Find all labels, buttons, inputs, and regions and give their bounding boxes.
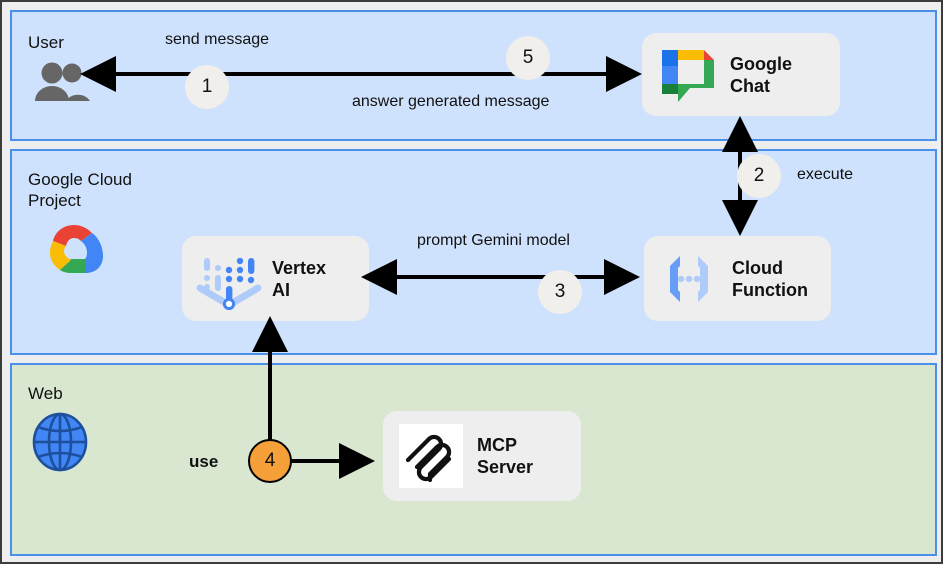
globe-icon: [29, 411, 91, 473]
vertex-ai-icon: [196, 248, 262, 310]
node-mcp-server-label: MCP Server: [477, 434, 533, 478]
edge-label-execute: execute: [797, 166, 853, 184]
node-vertex-ai[interactable]: Vertex AI: [182, 236, 369, 321]
step-badge-2: 2: [737, 154, 781, 198]
panel-gcp-title: Google Cloud Project: [28, 169, 132, 211]
edge-label-answer-generated-message: answer generated message: [352, 93, 549, 111]
step-badge-3: 3: [538, 270, 582, 314]
node-google-chat[interactable]: Google Chat: [642, 33, 840, 116]
google-cloud-icon: [40, 221, 108, 277]
panel-web: Web: [10, 363, 937, 556]
diagram-canvas: User Google Cloud Project: [0, 0, 943, 564]
panel-user-title: User: [28, 32, 64, 53]
step-badge-1: 1: [185, 65, 229, 109]
cloud-function-icon: [658, 248, 720, 310]
node-cloud-function[interactable]: Cloud Function: [644, 236, 831, 321]
step-badge-5: 5: [506, 36, 550, 80]
panel-web-title: Web: [28, 383, 63, 404]
node-cloud-function-label: Cloud Function: [732, 257, 808, 301]
google-chat-icon: [656, 44, 718, 106]
node-vertex-ai-label: Vertex AI: [272, 257, 326, 301]
edge-label-send-message: send message: [165, 31, 269, 49]
edge-label-prompt-gemini-model: prompt Gemini model: [417, 232, 570, 250]
node-google-chat-label: Google Chat: [730, 53, 792, 97]
edge-label-use: use: [189, 452, 218, 472]
step-badge-4: 4: [248, 439, 292, 483]
users-icon: [30, 60, 92, 102]
node-mcp-server[interactable]: MCP Server: [383, 411, 581, 501]
mcp-icon: [399, 424, 463, 488]
